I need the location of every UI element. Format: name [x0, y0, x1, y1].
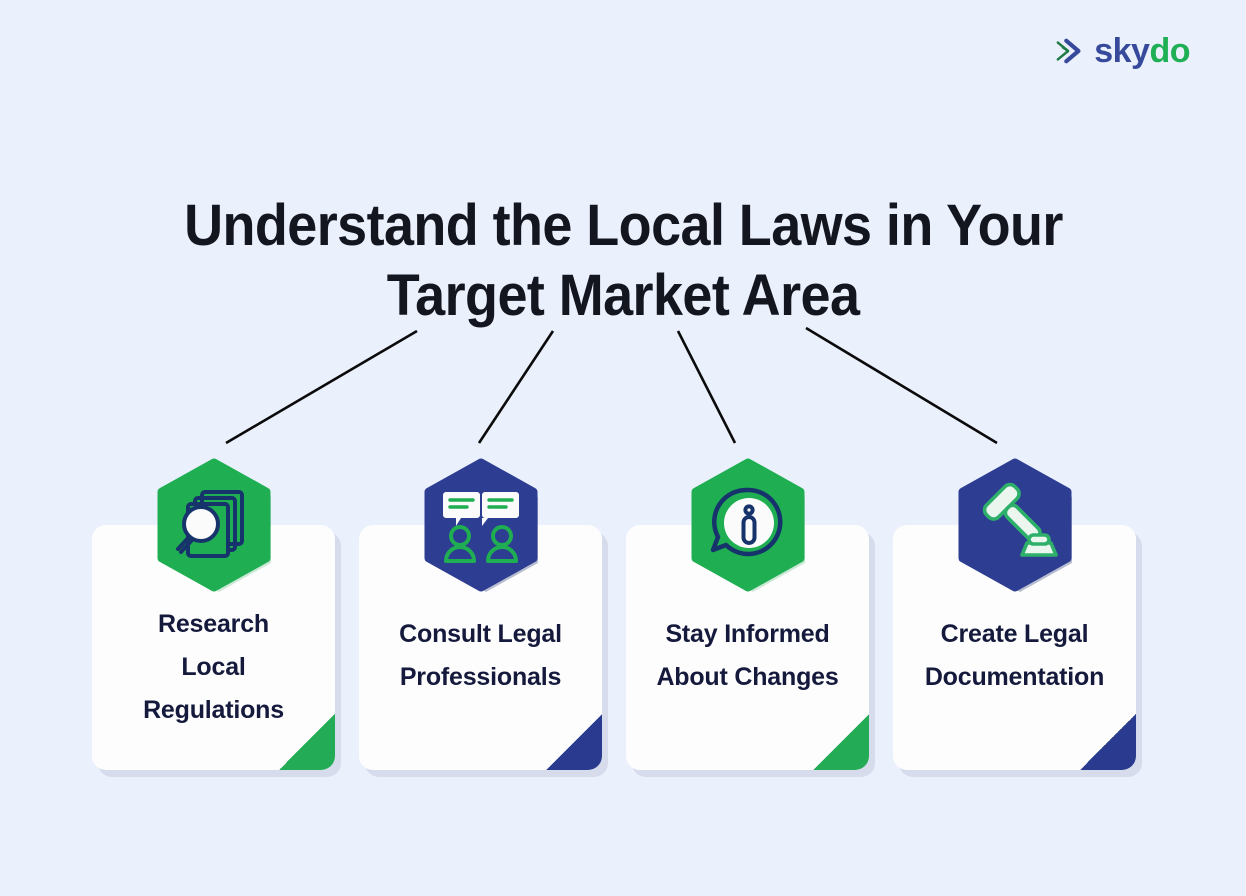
card-label-line: Local: [108, 646, 319, 689]
card-stay-informed-about-changes[interactable]: Stay Informed About Changes: [626, 525, 869, 770]
card-research-local-regulations[interactable]: Research Local Regulations: [92, 525, 335, 770]
infographic-canvas: skydo Understand the Local Laws in Your …: [0, 0, 1246, 896]
two-people-speech-bubbles-icon: [421, 459, 541, 591]
card-label-line: Research: [108, 603, 319, 646]
connector-line-1: [226, 331, 417, 443]
card-label-line: Documentation: [909, 656, 1120, 699]
hex-badge-2: [421, 459, 541, 591]
connector-line-2: [479, 331, 553, 443]
card-label: Research Local Regulations: [108, 603, 319, 732]
card-row: Research Local Regulations: [92, 525, 1154, 770]
page-title-line-2: Target Market Area: [387, 261, 860, 331]
card-label-line: Stay Informed: [642, 613, 853, 656]
card-corner-accent: [813, 714, 869, 770]
card-label-line: Regulations: [108, 689, 319, 732]
gavel-icon: [955, 459, 1075, 591]
card-label-line: Professionals: [375, 656, 586, 699]
connector-line-3: [678, 331, 735, 443]
information-speech-bubble-icon: [688, 459, 808, 591]
connector-line-4: [806, 328, 997, 443]
page-title: Understand the Local Laws in Your Target…: [118, 191, 1128, 331]
brand-word-do: do: [1149, 32, 1190, 70]
hex-badge-3: [688, 459, 808, 591]
card-label-line: Consult Legal: [375, 613, 586, 656]
card-corner-accent: [546, 714, 602, 770]
skydo-logo: skydo: [1055, 34, 1190, 68]
brand-word-sky: sky: [1094, 32, 1149, 70]
card-label: Consult Legal Professionals: [375, 613, 586, 699]
card-consult-legal-professionals[interactable]: Consult Legal Professionals: [359, 525, 602, 770]
card-label: Create Legal Documentation: [909, 613, 1120, 699]
card-label-line: About Changes: [642, 656, 853, 699]
page-title-line-1: Understand the Local Laws in Your: [184, 191, 1063, 261]
card-create-legal-documentation[interactable]: Create Legal Documentation: [893, 525, 1136, 770]
hex-badge-4: [955, 459, 1075, 591]
card-corner-accent: [1080, 714, 1136, 770]
card-label-line: Create Legal: [909, 613, 1120, 656]
brand-wordmark: skydo: [1094, 34, 1190, 68]
skydo-chevron-icon: [1055, 36, 1085, 66]
hex-badge-1: [154, 459, 274, 591]
card-label: Stay Informed About Changes: [642, 613, 853, 699]
documents-magnifier-icon: [154, 459, 274, 591]
